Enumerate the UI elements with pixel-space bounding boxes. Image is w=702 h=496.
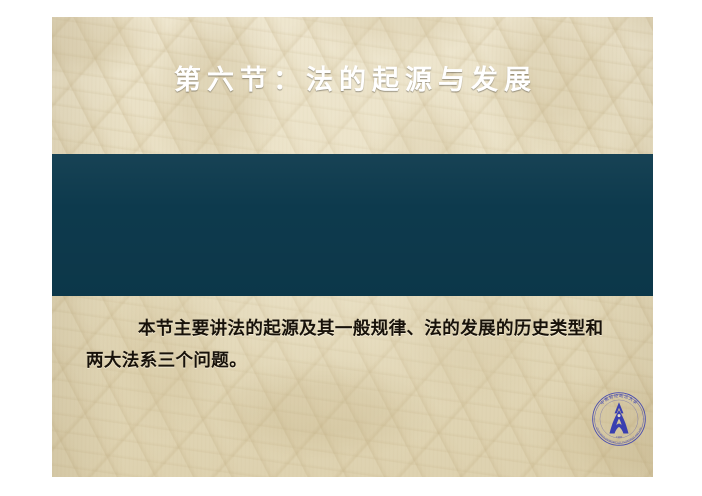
svg-text:1948: 1948 (616, 436, 622, 439)
slide-body-text: 本节主要讲法的起源及其一般规律、法的发展的历史类型和两大法系三个问题。 (86, 313, 621, 377)
slide-title: 第六节：法的起源与发展 (52, 66, 653, 96)
title-band-sheen (52, 154, 653, 296)
presentation-slide: 第六节：法的起源与发展 本节主要讲法的起源及其一般规律、法的发展的历史类型和两大… (52, 17, 653, 477)
title-band (52, 154, 653, 296)
slide-canvas: 第六节：法的起源与发展 本节主要讲法的起源及其一般规律、法的发展的历史类型和两大… (0, 0, 702, 496)
university-logo: 中南财经政法大学 ZHONGNAN UNIVERSITY OF ECONOMIC… (591, 391, 647, 447)
